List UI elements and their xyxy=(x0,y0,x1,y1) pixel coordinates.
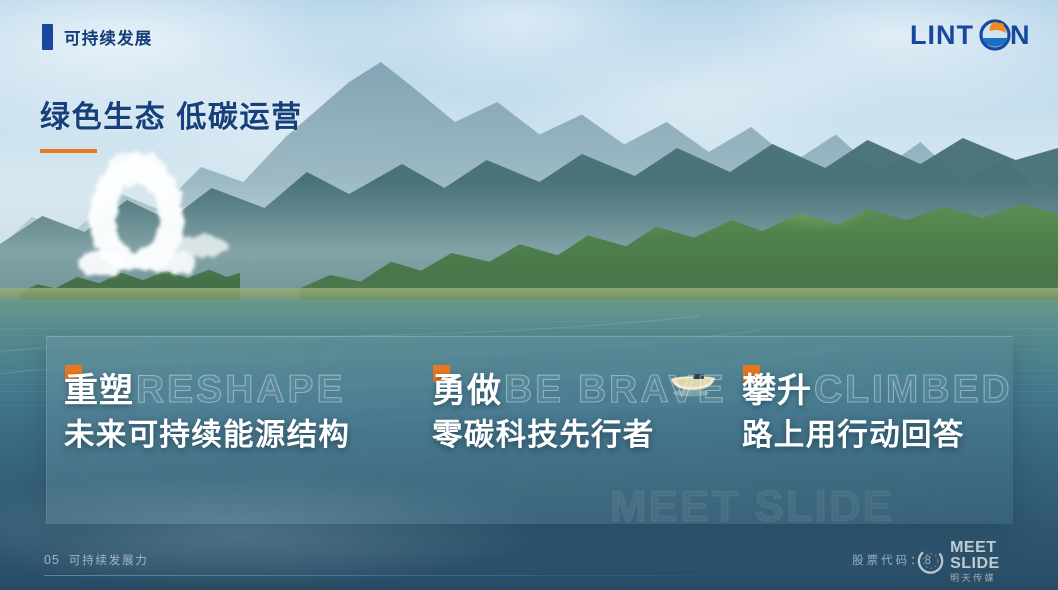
footer-page-number: 05 xyxy=(44,553,60,567)
pillar-subtitle: 路上用行动回答 xyxy=(742,418,1013,454)
pillar-heading-row: 攀升 CLIMBED xyxy=(742,370,1013,411)
kicker-label: 可持续发展 xyxy=(64,25,153,49)
pillar-english-ghost-text: BE BRAVE xyxy=(504,370,727,411)
watermark-circle-icon xyxy=(916,546,945,576)
page-title-block: 绿色生态 低碳运营 xyxy=(40,92,303,153)
zero-carbon-cloud-icon xyxy=(62,140,262,288)
footer-divider xyxy=(44,575,780,576)
pillar-be-brave: 勇做 BE BRAVE 零碳科技先行者 xyxy=(420,370,730,454)
page-title: 绿色生态 低碳运营 xyxy=(40,92,303,136)
pillar-reshape: 重塑 RESHAPE 未来可持续能源结构 xyxy=(46,370,420,454)
footer-section-marker: 05 可持续发展力 xyxy=(44,552,149,568)
pillar-subtitle: 未来可持续能源结构 xyxy=(64,418,420,454)
svg-text:LINT: LINT xyxy=(910,20,974,50)
watermark-main-text: MEET SLIDE xyxy=(950,540,1048,572)
pillar-english-ghost-text: RESHAPE xyxy=(136,370,346,411)
title-accent-rule xyxy=(40,149,97,153)
kicker-accent-bar xyxy=(42,24,53,50)
linton-logo-icon: LINT N xyxy=(910,19,1028,51)
brand-logo: LINT N xyxy=(910,18,1028,52)
header-kicker: 可持续发展 xyxy=(42,24,153,50)
pillars-container: 重塑 RESHAPE 未来可持续能源结构 勇做 BE BRAVE 零碳科技先行者… xyxy=(46,336,1013,524)
pillar-lead-text: 勇做 xyxy=(432,373,502,410)
pillar-lead-text: 重塑 xyxy=(64,373,134,410)
watermark-badge: MEET SLIDE 明天传媒 xyxy=(916,540,1048,582)
pillar-subtitle: 零碳科技先行者 xyxy=(432,418,730,454)
slide-root: 可持续发展 LINT N 绿色生态 低碳运营 重塑 xyxy=(0,0,1058,590)
watermark-sub-text: 明天传媒 xyxy=(950,574,1048,583)
pillar-english-ghost-text: CLIMBED xyxy=(814,370,1013,411)
pillar-lead-text: 攀升 xyxy=(742,373,812,410)
pillar-heading-row: 勇做 BE BRAVE xyxy=(432,370,730,411)
pillar-heading-row: 重塑 RESHAPE xyxy=(64,370,420,411)
watermark-text: MEET SLIDE 明天传媒 xyxy=(950,540,1048,583)
footer-section-label: 可持续发展力 xyxy=(69,552,149,568)
svg-text:N: N xyxy=(1010,20,1028,50)
pillar-climbed: 攀升 CLIMBED 路上用行动回答 xyxy=(730,370,1013,454)
